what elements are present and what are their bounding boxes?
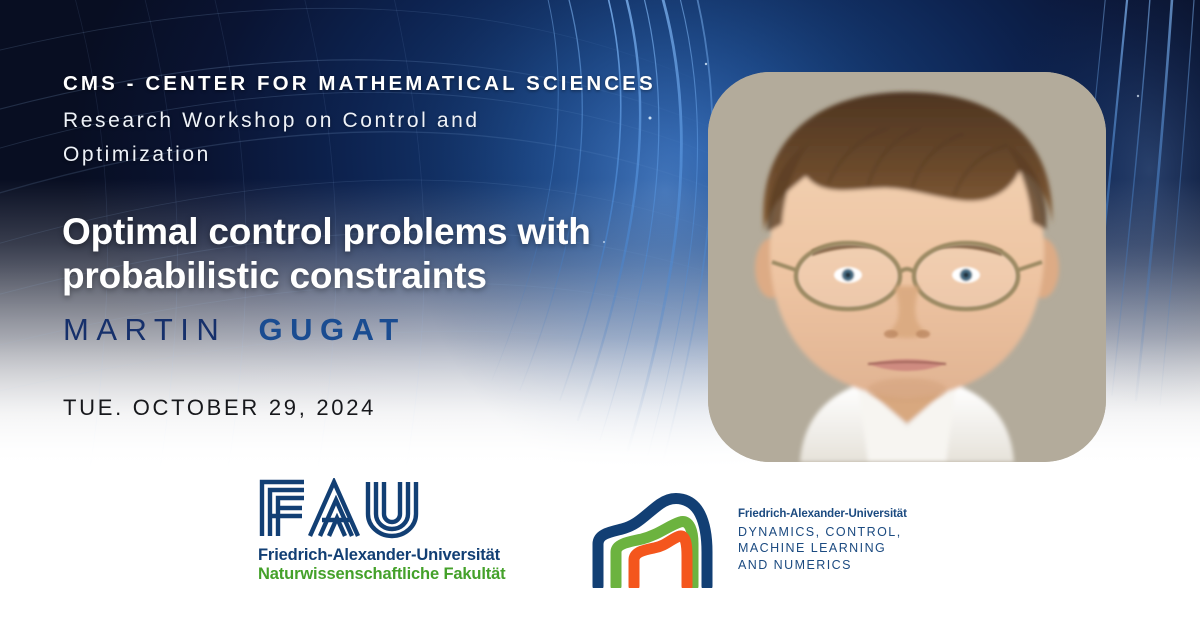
dcn-arcs-icon <box>588 490 720 588</box>
dcn-line3: AND NUMERICS <box>738 557 907 574</box>
event-date: TUE. OCTOBER 29, 2024 <box>63 395 376 421</box>
page-eyebrow: CMS - CENTER FOR MATHEMATICAL SCIENCES <box>63 72 656 96</box>
fau-logo: Friedrich-Alexander-Universität Naturwis… <box>258 478 513 584</box>
speaker-portrait <box>708 72 1106 462</box>
page-title: Optimal control problems with probabilis… <box>62 210 712 298</box>
fau-logo-line1: Friedrich-Alexander-Universität <box>258 546 513 565</box>
fau-logo-line2: Naturwissenschaftliche Fakultät <box>258 565 513 584</box>
dcn-logo-text: Friedrich-Alexander-Universität DYNAMICS… <box>738 504 907 574</box>
fau-wordmark-icon <box>258 478 428 540</box>
dcn-line2: MACHINE LEARNING <box>738 540 907 557</box>
seminar-announcement-poster: CMS - CENTER FOR MATHEMATICAL SCIENCES R… <box>0 0 1200 627</box>
speaker-last-name: GUGAT <box>259 312 406 347</box>
workshop-subtitle: Research Workshop on Control and Optimiz… <box>63 104 583 172</box>
dcn-logo: Friedrich-Alexander-Universität DYNAMICS… <box>588 486 908 591</box>
dcn-university-name: Friedrich-Alexander-Universität <box>738 508 907 520</box>
speaker-first-name: MARTIN <box>63 312 226 347</box>
dcn-line1: DYNAMICS, CONTROL, <box>738 524 907 541</box>
speaker-name: MARTIN GUGAT <box>63 312 406 348</box>
